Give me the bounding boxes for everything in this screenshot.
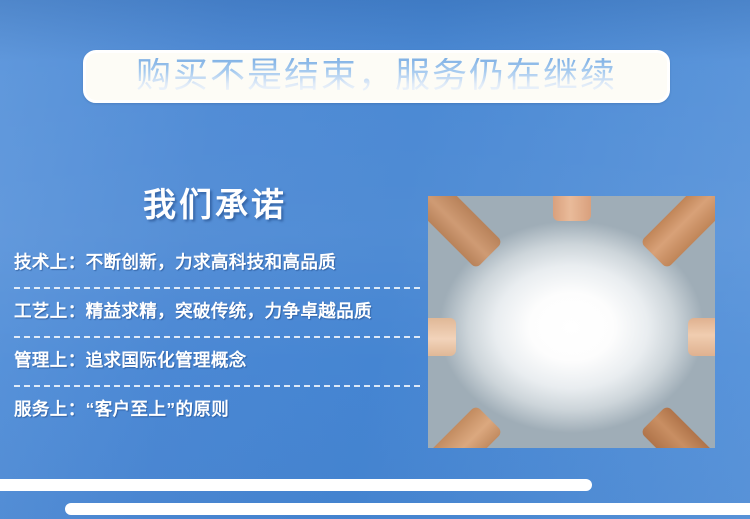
promise-item-text: 服务上：“客户至上”的原则 (14, 399, 229, 420)
promise-item-text: 技术上：不断创新，力求高科技和高品质 (14, 252, 336, 273)
footer-bar-bottom (65, 503, 750, 515)
promise-item-text: 工艺上：精益求精，突破传统，力争卓越品质 (14, 301, 372, 322)
promo-poster: 购买不是结束，服务仍在继续 我们承诺 技术上：不断创新，力求高科技和高品质 工艺… (0, 0, 750, 519)
promise-list: 技术上：不断创新，力求高科技和高品质 工艺上：精益求精，突破传统，力争卓越品质 … (0, 238, 430, 434)
hand-shape (690, 307, 716, 367)
promise-item: 服务上：“客户至上”的原则 (0, 385, 430, 434)
footer-bar-top (0, 479, 592, 491)
forearm (553, 196, 591, 221)
promise-section: 我们承诺 技术上：不断创新，力求高科技和高品质 工艺上：精益求精，突破传统，力争… (0, 188, 430, 434)
header-banner: 购买不是结束，服务仍在继续 (83, 50, 670, 103)
hand-shape (542, 196, 602, 219)
promise-item: 管理上：追求国际化管理概念 (0, 336, 430, 385)
hands-circle-photo (428, 196, 715, 448)
forearm (428, 318, 456, 356)
promise-heading: 我们承诺 (0, 188, 430, 224)
header-title: 购买不是结束，服务仍在继续 (136, 58, 617, 95)
hand-shape (428, 307, 454, 367)
promise-item: 工艺上：精益求精，突破传统，力争卓越品质 (0, 287, 430, 336)
promise-item-text: 管理上：追求国际化管理概念 (14, 350, 247, 371)
promise-item: 技术上：不断创新，力求高科技和高品质 (0, 238, 430, 287)
forearm (688, 318, 716, 356)
